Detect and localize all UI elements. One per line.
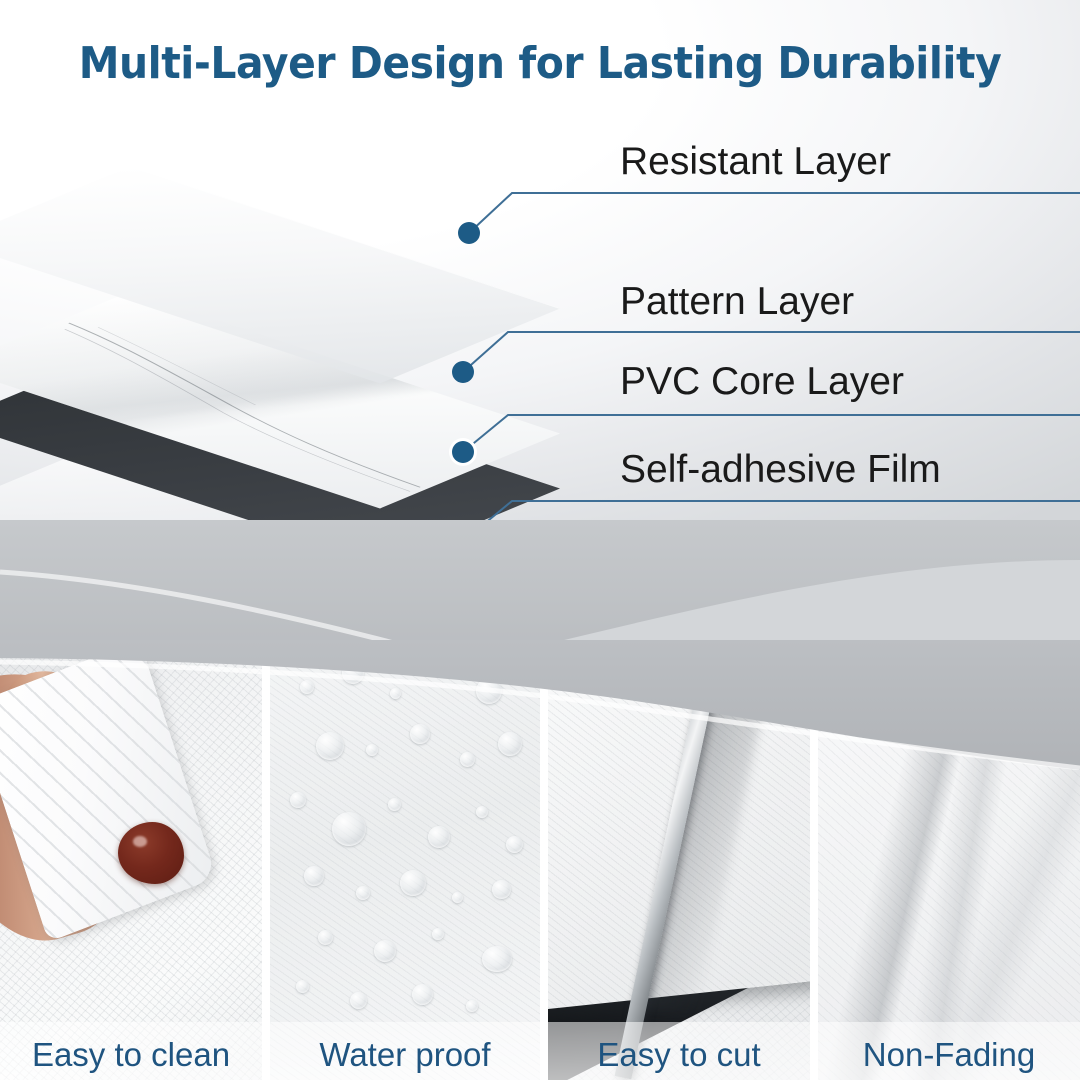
- infographic-canvas: Multi-Layer Design for Lasting Durabilit…: [0, 0, 1080, 1080]
- feature-panel-non-fading[interactable]: Non-Fading: [818, 640, 1080, 1080]
- water-droplet: [356, 886, 370, 900]
- water-droplet: [332, 812, 366, 846]
- callout-dot-pvc-core-layer[interactable]: [452, 441, 474, 463]
- water-droplet: [374, 940, 396, 962]
- water-droplet: [476, 678, 502, 704]
- layer-label-pattern: Pattern Layer: [620, 280, 854, 324]
- water-droplet: [304, 866, 324, 886]
- water-droplet: [432, 928, 444, 940]
- water-droplet: [350, 992, 367, 1009]
- panel-caption-easy-to-clean: Easy to clean: [0, 1036, 262, 1074]
- layer-label-self-adhesive-film: Self-adhesive Film: [620, 448, 941, 492]
- water-droplet: [498, 732, 522, 756]
- panel-caption-water-proof: Water proof: [270, 1036, 540, 1074]
- water-droplet: [460, 752, 475, 767]
- water-droplet: [452, 892, 463, 903]
- feature-panel-water-proof[interactable]: Water proof: [270, 640, 540, 1080]
- water-droplet: [492, 880, 511, 899]
- layer-label-pvc-core: PVC Core Layer: [620, 360, 904, 404]
- water-droplet: [428, 826, 450, 848]
- callout-dot-pattern-layer[interactable]: [452, 361, 474, 383]
- water-droplet: [466, 1000, 478, 1012]
- feature-panel-easy-to-clean[interactable]: Easy to clean: [0, 640, 262, 1080]
- layer-label-resistant: Resistant Layer: [620, 140, 891, 184]
- panel-caption-easy-to-cut: Easy to cut: [548, 1036, 810, 1074]
- water-droplet: [438, 658, 456, 676]
- marble-texture: [818, 640, 1080, 1080]
- water-droplet: [476, 806, 488, 818]
- water-droplet: [290, 792, 306, 808]
- water-droplet: [508, 654, 521, 667]
- feature-panel-easy-to-cut[interactable]: Easy to cut: [548, 640, 810, 1080]
- water-droplet: [506, 836, 523, 853]
- red-spill-stain: [118, 822, 184, 884]
- tile-texture: [270, 640, 540, 1080]
- water-droplet: [388, 798, 401, 811]
- water-droplet: [300, 680, 314, 694]
- water-droplet: [296, 980, 309, 993]
- water-droplet: [390, 688, 401, 699]
- water-droplet: [400, 870, 426, 896]
- water-droplet: [318, 930, 333, 945]
- water-droplet: [342, 662, 364, 684]
- water-droplet: [366, 744, 378, 756]
- water-droplet: [316, 732, 344, 760]
- water-droplet: [482, 946, 512, 972]
- panel-caption-non-fading: Non-Fading: [818, 1036, 1080, 1074]
- water-droplet: [410, 724, 430, 744]
- feature-panel-strip: Easy to clean: [0, 640, 1080, 1080]
- water-droplet: [412, 984, 433, 1005]
- callout-dot-resistant-layer[interactable]: [458, 222, 480, 244]
